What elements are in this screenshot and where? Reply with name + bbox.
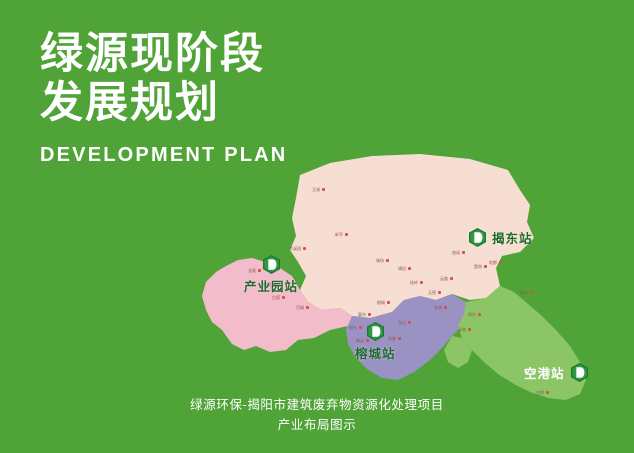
town-label: 溪南 [458, 327, 471, 332]
town-name: 榕城 [377, 300, 385, 305]
town-name: 埔田 [398, 266, 406, 271]
station-label-jiedong: 揭东站 [492, 228, 533, 247]
town-label: 白塔 [272, 295, 285, 300]
town-dot-icon [322, 188, 325, 191]
station-marker-industrial[interactable]: 产业园站 [244, 255, 298, 295]
town-name: 东山 [398, 320, 406, 325]
town-dot-icon [387, 301, 390, 304]
town-label: 砲台 [520, 290, 533, 295]
town-name: 京溪园 [289, 246, 301, 251]
town-name: 砲台 [520, 290, 528, 295]
caption-block: 绿源环保-揭阳市建筑废弃物资源化处理项目 产业布局图示 [0, 395, 634, 435]
town-label: 榕城 [377, 300, 390, 305]
station-marker-jiedong[interactable]: 揭东站 [469, 228, 533, 247]
station-label-rongcheng: 榕城站 [355, 343, 396, 362]
town-dot-icon [438, 291, 441, 294]
town-dot-icon [530, 291, 533, 294]
station-marker-airport[interactable]: 空港站 [524, 363, 588, 382]
town-dot-icon [386, 259, 389, 262]
green-hex-logo-icon [469, 228, 486, 247]
town-name: 渔湖 [434, 305, 442, 310]
town-name: 磐东 [358, 312, 366, 317]
town-label: 云路 [440, 276, 453, 281]
green-hex-logo-icon [263, 255, 280, 274]
town-name: 玉窖 [428, 290, 436, 295]
town-dot-icon [478, 313, 481, 316]
town-name: 地都 [489, 260, 497, 265]
subtitle-development-plan: DEVELOPMENT PLAN [40, 144, 287, 166]
town-dot-icon [345, 233, 348, 236]
green-hex-logo-icon [367, 322, 384, 341]
town-dot-icon [282, 296, 285, 299]
town-name: 炮台 [468, 312, 476, 317]
town-label: 地都 [489, 260, 502, 265]
town-dot-icon [306, 306, 309, 309]
station-label-airport: 空港站 [524, 363, 565, 382]
town-name: 锡场 [376, 258, 384, 263]
town-name: 溪南 [458, 327, 466, 332]
station-label-industrial: 产业园站 [244, 276, 298, 295]
town-dot-icon [462, 251, 465, 254]
heading-block: 绿源现阶段 发展规划 DEVELOPMENT PLAN [40, 30, 287, 166]
town-label: 桂岭 [410, 280, 423, 285]
town-name: 曲溪 [452, 250, 460, 255]
town-dot-icon [420, 281, 423, 284]
station-marker-rongcheng[interactable]: 榕城站 [355, 322, 396, 362]
town-dot-icon [303, 247, 306, 250]
town-label: 东山 [398, 320, 411, 325]
town-label: 磐东 [358, 312, 371, 317]
town-dot-icon [450, 277, 453, 280]
town-dot-icon [499, 261, 502, 264]
town-label: 炮台 [468, 312, 481, 317]
town-dot-icon [398, 337, 401, 340]
town-name: 登岗 [474, 264, 482, 269]
town-name: 新亨 [335, 232, 343, 237]
town-label: 玉湖 [312, 187, 325, 192]
town-label: 新亨 [335, 232, 348, 237]
town-label: 月城 [296, 305, 309, 310]
town-dot-icon [408, 267, 411, 270]
title-line-1: 绿源现阶段 [40, 30, 287, 79]
town-label: 埔田 [398, 266, 411, 271]
town-dot-icon [408, 321, 411, 324]
town-label: 登岗 [474, 264, 487, 269]
town-dot-icon [468, 328, 471, 331]
town-label: 京溪园 [289, 246, 306, 251]
town-dot-icon [484, 265, 487, 268]
caption-line-2: 产业布局图示 [0, 415, 634, 435]
town-label: 锡场 [376, 258, 389, 263]
town-dot-icon [444, 306, 447, 309]
town-name: 月城 [296, 305, 304, 310]
town-name: 白塔 [272, 295, 280, 300]
region-airport-lightgreen [458, 286, 586, 400]
poster-root: 玉湖新亨锡场埔田桂岭玉窖云路曲溪霖磐白塔龙尾月城磐东东山榕东仙桥梅云渔湖炮台地都… [0, 0, 634, 453]
title-line-2: 发展规划 [40, 79, 287, 128]
town-label: 渔湖 [434, 305, 447, 310]
town-name: 云路 [440, 276, 448, 281]
green-hex-logo-icon [571, 363, 588, 382]
town-label: 曲溪 [452, 250, 465, 255]
town-dot-icon [546, 391, 549, 394]
town-dot-icon [368, 313, 371, 316]
town-name: 玉湖 [312, 187, 320, 192]
town-label: 玉窖 [428, 290, 441, 295]
town-name: 桂岭 [410, 280, 418, 285]
caption-line-1: 绿源环保-揭阳市建筑废弃物资源化处理项目 [0, 395, 634, 415]
